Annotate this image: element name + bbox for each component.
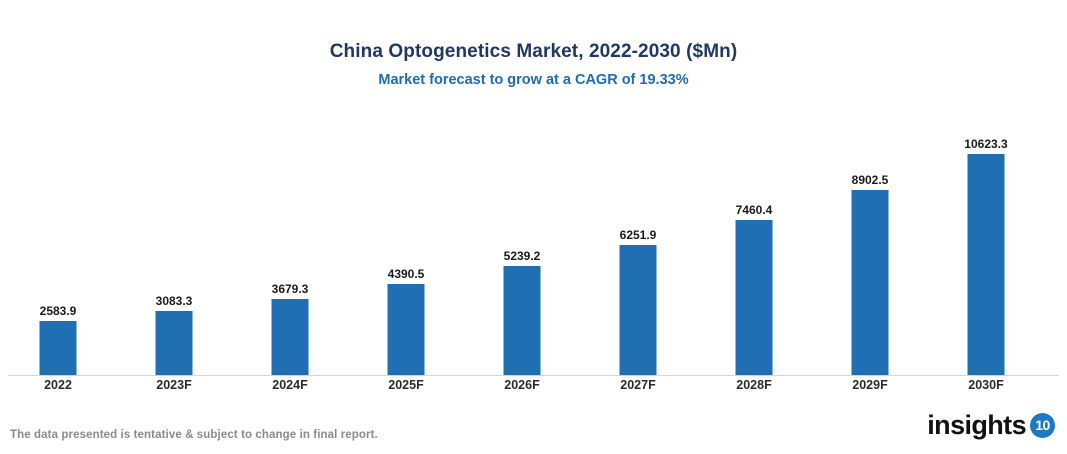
bar-value-label: 4390.5 [388, 267, 425, 281]
category-label-2024f: 2024F [232, 378, 348, 392]
bar-value-label: 2583.9 [40, 304, 77, 318]
bar-value-label: 8902.5 [852, 173, 889, 187]
bar-slot: 10623.3 [928, 110, 1044, 375]
bar-slot: 3083.3 [116, 110, 232, 375]
brand-wordmark: insights [927, 412, 1026, 439]
bar-value-label: 3083.3 [156, 294, 193, 308]
category-label-2029f: 2029F [812, 378, 928, 392]
axis-baseline [8, 375, 1059, 376]
category-label-2023f: 2023F [116, 378, 232, 392]
bar[interactable]: 4390.5 [388, 284, 425, 375]
bar-slot: 4390.5 [348, 110, 464, 375]
category-label-2022: 2022 [0, 378, 116, 392]
bar-slot: 5239.2 [464, 110, 580, 375]
bar[interactable]: 3083.3 [156, 311, 193, 375]
disclaimer-note: The data presented is tentative & subjec… [10, 429, 378, 441]
category-label-2030f: 2030F [928, 378, 1044, 392]
brand-badge-icon: 10 [1030, 413, 1055, 438]
bar[interactable]: 3679.3 [272, 299, 309, 376]
bar-slot: 3679.3 [232, 110, 348, 375]
bar-value-label: 3679.3 [272, 282, 309, 296]
category-axis: 2022 2023F 2024F 2025F 2026F 2027F 2028F… [0, 378, 1067, 400]
bar-slot: 8902.5 [812, 110, 928, 375]
bar-slot: 6251.9 [580, 110, 696, 375]
chart-canvas: China Optogenetics Market, 2022-2030 ($M… [0, 0, 1067, 454]
bar-value-label: 10623.3 [964, 137, 1007, 151]
category-label-2026f: 2026F [464, 378, 580, 392]
chart-subtitle: Market forecast to grow at a CAGR of 19.… [0, 71, 1067, 89]
bar-slot: 7460.4 [696, 110, 812, 375]
bar[interactable]: 8902.5 [852, 190, 889, 375]
bar[interactable]: 6251.9 [620, 245, 657, 375]
bar-value-label: 7460.4 [736, 203, 773, 217]
plot-area: 2583.9 3083.3 3679.3 4390.5 5239.2 6251. [0, 110, 1067, 376]
category-label-2028f: 2028F [696, 378, 812, 392]
bar[interactable]: 10623.3 [968, 154, 1005, 375]
bar-value-label: 6251.9 [620, 228, 657, 242]
bar[interactable]: 2583.9 [40, 321, 77, 375]
bar[interactable]: 7460.4 [736, 220, 773, 375]
category-label-2027f: 2027F [580, 378, 696, 392]
category-label-2025f: 2025F [348, 378, 464, 392]
title-block: China Optogenetics Market, 2022-2030 ($M… [0, 40, 1067, 89]
bar-slot: 2583.9 [0, 110, 116, 375]
chart-title: China Optogenetics Market, 2022-2030 ($M… [0, 40, 1067, 64]
bar-value-label: 5239.2 [504, 249, 541, 263]
bar[interactable]: 5239.2 [504, 266, 541, 375]
insights10-logo: insights 10 [927, 408, 1055, 442]
